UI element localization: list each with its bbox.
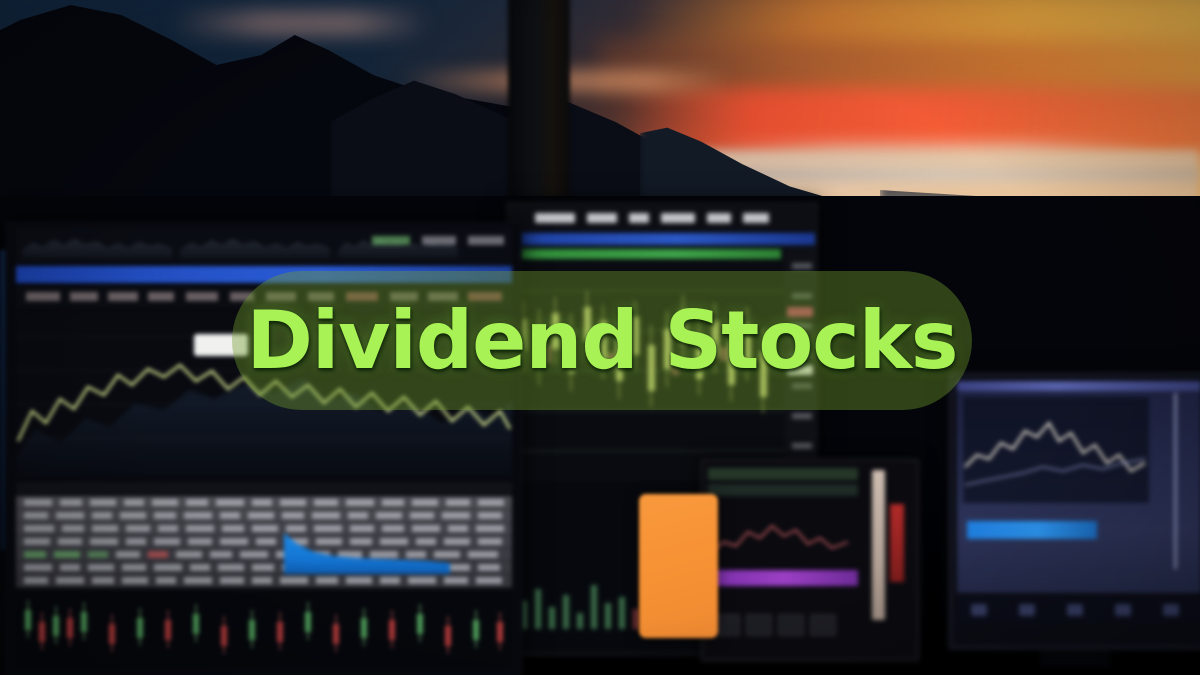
right-monitor-chart[interactable]	[963, 397, 1149, 503]
menu-item[interactable]	[707, 213, 731, 223]
screenshot-stage: Dividend Stocks	[0, 0, 1200, 675]
sparkline	[22, 232, 172, 258]
right-monitor-screen	[957, 381, 1200, 593]
right-monitor-selection-bar[interactable]	[967, 521, 1097, 539]
taskbar-icon[interactable]	[971, 604, 987, 616]
table-row[interactable]	[16, 522, 512, 536]
taskbar-icon[interactable]	[1163, 604, 1179, 616]
taskbar-icon[interactable]	[1067, 604, 1083, 616]
ticker-value	[422, 236, 456, 245]
right-monitor-price-line	[963, 397, 1149, 503]
taskbar-icon[interactable]	[1019, 604, 1035, 616]
sparkline	[180, 232, 330, 258]
ticker-change-up	[372, 236, 410, 245]
tablet-button[interactable]	[810, 614, 836, 636]
right-monitor-toolbar[interactable]	[957, 381, 1200, 391]
page-title: Dividend Stocks	[246, 301, 957, 381]
main-monitor-candle-strip[interactable]	[16, 592, 512, 668]
main-monitor-ticker-strip[interactable]	[16, 228, 512, 264]
table-row[interactable]	[16, 535, 512, 549]
cloud-wisp	[170, 10, 430, 36]
tablet-scrollbar[interactable]	[872, 470, 885, 620]
tablet-row[interactable]	[708, 468, 858, 480]
menu-item[interactable]	[535, 213, 575, 223]
title-overlay: Dividend Stocks	[232, 271, 972, 410]
tablet-button[interactable]	[746, 614, 772, 636]
taskbar-icon[interactable]	[1115, 604, 1131, 616]
candlestick-series	[16, 592, 512, 668]
window-post	[508, 0, 570, 224]
center-monitor-menubar[interactable]	[509, 205, 815, 231]
menu-item[interactable]	[661, 213, 695, 223]
tablet-highlighted-row[interactable]	[710, 570, 858, 586]
right-monitor-crosshair	[1174, 393, 1177, 569]
main-monitor-quote-table[interactable]	[16, 496, 512, 588]
menu-item[interactable]	[587, 213, 617, 223]
orange-sticky-panel[interactable]	[639, 494, 718, 638]
menu-item[interactable]	[743, 213, 769, 223]
tablet-alert-bar	[890, 504, 904, 582]
right-monitor[interactable]	[948, 372, 1200, 650]
tablet-button[interactable]	[778, 614, 804, 636]
table-row[interactable]	[16, 548, 512, 562]
main-monitor-divider	[16, 482, 512, 494]
right-monitor-taskbar[interactable]	[957, 597, 1200, 623]
table-row[interactable]	[16, 574, 512, 588]
tablet-chart	[710, 514, 860, 560]
table-row[interactable]	[16, 509, 512, 523]
center-monitor-titlebar	[509, 233, 815, 245]
tablet-row[interactable]	[708, 484, 858, 496]
tablet-screen[interactable]	[700, 458, 920, 662]
table-row[interactable]	[16, 496, 512, 510]
center-monitor-table-header	[513, 249, 781, 259]
menu-item[interactable]	[629, 213, 649, 223]
ticker-value	[468, 236, 504, 245]
